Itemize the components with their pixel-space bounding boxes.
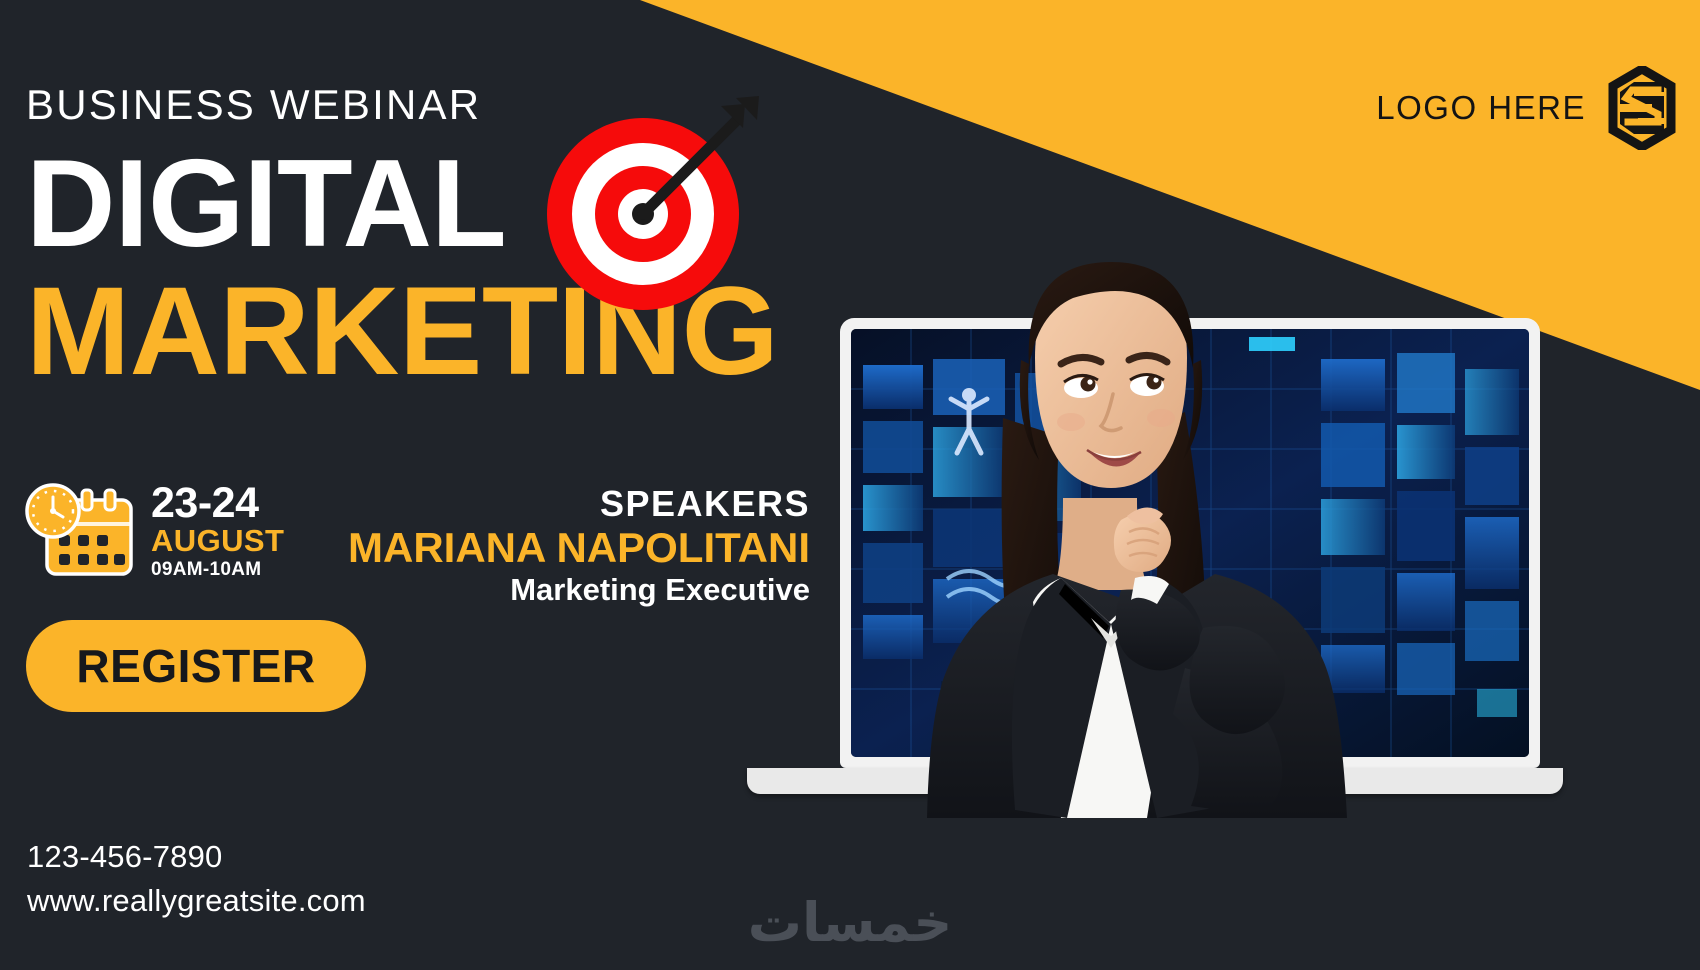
speaker-block: SPEAKERS MARIANA NAPOLITANI Marketing Ex… bbox=[348, 484, 810, 609]
event-days: 23-24 bbox=[151, 482, 284, 525]
speaker-role: Marketing Executive bbox=[348, 571, 810, 610]
speakers-label: SPEAKERS bbox=[348, 484, 810, 524]
event-info-row: 23-24 AUGUST 09AM-10AM SPEAKERS MARIANA … bbox=[20, 470, 820, 600]
calendar-clock-icon bbox=[25, 478, 137, 582]
presenter-photo bbox=[885, 198, 1355, 818]
hexagon-s-monogram-icon bbox=[1608, 66, 1676, 150]
contact-phone[interactable]: 123-456-7890 bbox=[27, 835, 366, 879]
event-time: 09AM-10AM bbox=[151, 558, 284, 583]
date-block: 23-24 AUGUST 09AM-10AM bbox=[25, 478, 284, 582]
target-dartboard-icon bbox=[531, 86, 771, 326]
logo-text: LOGO HERE bbox=[1376, 89, 1586, 127]
webinar-banner: LOGO HERE BUSINESS WEBINAR DIGITAL MARKE… bbox=[0, 0, 1700, 970]
event-month: AUGUST bbox=[151, 525, 284, 558]
laptop-illustration bbox=[735, 318, 1575, 828]
logo: LOGO HERE bbox=[1376, 66, 1676, 150]
speaker-name: MARIANA NAPOLITANI bbox=[348, 524, 810, 571]
watermark: خمسات bbox=[0, 891, 1700, 954]
register-button[interactable]: REGISTER bbox=[26, 620, 366, 712]
